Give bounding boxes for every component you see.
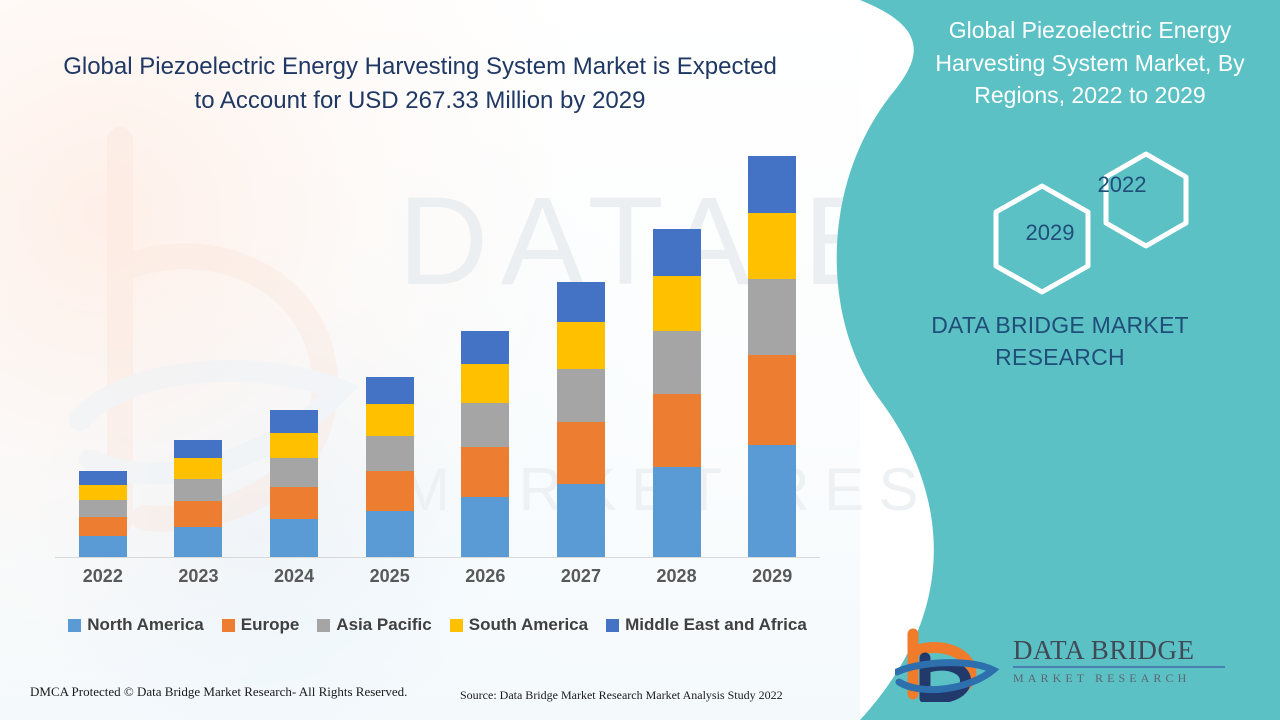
legend-label: South America <box>469 615 588 635</box>
hexagon-2022-shape <box>1106 154 1186 246</box>
brand-panel: Global Piezoelectric Energy Harvesting S… <box>820 0 1280 720</box>
legend-label: Europe <box>241 615 300 635</box>
legend-swatch-icon <box>317 619 330 632</box>
bar-segment <box>748 213 796 280</box>
bar-stack <box>174 440 222 557</box>
bar-column <box>55 150 150 557</box>
bar-segment <box>366 404 414 435</box>
bar-segment <box>461 403 509 447</box>
legend-label: North America <box>87 615 204 635</box>
legend-label: Middle East and Africa <box>625 615 807 635</box>
bar-segment <box>79 485 127 500</box>
bar-column <box>533 150 628 557</box>
bar-segment <box>366 377 414 405</box>
bar-column <box>725 150 820 557</box>
bar-segment <box>557 484 605 557</box>
bar-segment <box>461 447 509 498</box>
bar-column <box>629 150 724 557</box>
bar-segment <box>270 433 318 458</box>
company-logo: DATA BRIDGE MARKET RESEARCH <box>885 628 1235 702</box>
bar-segment <box>366 471 414 511</box>
bar-segment <box>461 364 509 403</box>
x-axis-label: 2022 <box>55 566 150 596</box>
chart-title: Global Piezoelectric Energy Harvesting S… <box>60 50 780 117</box>
bar-column <box>438 150 533 557</box>
bar-segment <box>748 156 796 213</box>
x-axis-label: 2024 <box>247 566 342 596</box>
bar-segment <box>748 355 796 445</box>
bar-stack <box>461 331 509 557</box>
legend-item[interactable]: South America <box>450 615 588 635</box>
footer-dmca-text: DMCA Protected © Data Bridge Market Rese… <box>30 684 407 700</box>
bar-stack <box>748 156 796 557</box>
logo-wordmark: DATA BRIDGE MARKET RESEARCH <box>1013 636 1228 686</box>
bar-segment <box>174 458 222 478</box>
logo-name-text: DATA BRIDGE <box>1013 636 1228 664</box>
bar-segment <box>366 511 414 558</box>
bar-segment <box>557 369 605 422</box>
bar-segment <box>557 282 605 322</box>
bar-segment <box>79 536 127 557</box>
x-axis-labels: 20222023202420252026202720282029 <box>55 566 820 596</box>
bar-column <box>151 150 246 557</box>
x-axis-label: 2028 <box>629 566 724 596</box>
bar-segment <box>653 331 701 394</box>
legend-swatch-icon <box>68 619 81 632</box>
bar-segment <box>79 517 127 536</box>
bar-column <box>247 150 342 557</box>
x-axis-label: 2023 <box>151 566 246 596</box>
brand-panel-content: Global Piezoelectric Energy Harvesting S… <box>820 0 1280 720</box>
x-axis-label: 2027 <box>533 566 628 596</box>
infographic-root: DATA BRIDGE MARKET RESEARCH Global Piezo… <box>0 0 1280 720</box>
brand-name-text: DATA BRIDGE MARKET RESEARCH <box>895 310 1225 373</box>
bar-stack <box>79 471 127 557</box>
legend-item[interactable]: Middle East and Africa <box>606 615 807 635</box>
bar-segment <box>270 487 318 520</box>
legend-swatch-icon <box>606 619 619 632</box>
data-bridge-logo-icon <box>895 628 1005 702</box>
bar-segment <box>174 527 222 557</box>
bar-segment <box>461 497 509 557</box>
legend-label: Asia Pacific <box>336 615 431 635</box>
bar-segment <box>270 458 318 486</box>
bar-segment <box>79 500 127 517</box>
bar-stack <box>270 410 318 557</box>
x-axis-line <box>55 557 820 558</box>
bar-column <box>342 150 437 557</box>
logo-divider <box>1013 666 1225 668</box>
bar-stack <box>557 282 605 557</box>
legend-swatch-icon <box>450 619 463 632</box>
logo-subtitle-text: MARKET RESEARCH <box>1013 671 1228 686</box>
bar-segment <box>461 331 509 364</box>
x-axis-label: 2025 <box>342 566 437 596</box>
legend-item[interactable]: North America <box>68 615 204 635</box>
bar-segment <box>653 276 701 331</box>
bar-segment <box>174 440 222 458</box>
bar-segment <box>748 279 796 355</box>
bar-segment <box>653 467 701 557</box>
bar-segment <box>174 501 222 527</box>
brand-panel-title: Global Piezoelectric Energy Harvesting S… <box>925 14 1255 112</box>
chart-legend: North AmericaEuropeAsia PacificSouth Ame… <box>55 615 820 635</box>
bar-segment <box>557 322 605 369</box>
chart-panel: Global Piezoelectric Energy Harvesting S… <box>0 0 860 720</box>
bar-segment <box>174 479 222 502</box>
bar-segment <box>557 422 605 484</box>
bar-segment <box>366 436 414 471</box>
bar-segment <box>653 394 701 467</box>
footer: DMCA Protected © Data Bridge Market Rese… <box>0 684 860 712</box>
bar-segment <box>748 445 796 557</box>
bar-segment <box>270 519 318 557</box>
bar-stack <box>366 377 414 557</box>
bar-group <box>55 150 820 557</box>
x-axis-label: 2026 <box>438 566 533 596</box>
legend-item[interactable]: Europe <box>222 615 300 635</box>
plot-area <box>55 150 820 558</box>
legend-item[interactable]: Asia Pacific <box>317 615 431 635</box>
hexagon-label-2022: 2022 <box>1082 172 1162 198</box>
bar-segment <box>270 410 318 433</box>
x-axis-label: 2029 <box>725 566 820 596</box>
bar-segment <box>79 471 127 485</box>
legend-swatch-icon <box>222 619 235 632</box>
bar-segment <box>653 229 701 276</box>
bar-stack <box>653 229 701 557</box>
hexagon-label-2029: 2029 <box>1005 220 1095 246</box>
footer-source-text: Source: Data Bridge Market Research Mark… <box>460 688 783 703</box>
